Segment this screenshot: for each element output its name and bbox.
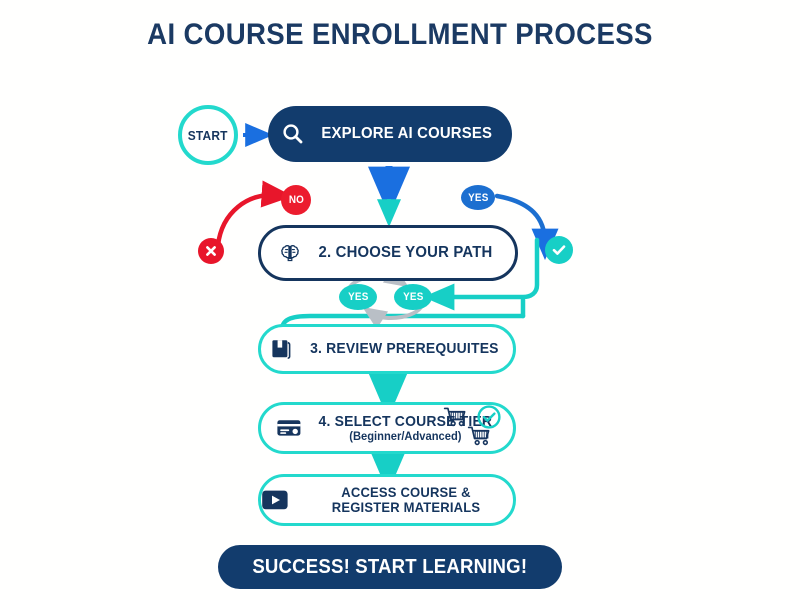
badge-yes-right[interactable]: YES: [461, 185, 495, 210]
node-choose-label: 2. CHOOSE YOUR PATH: [318, 245, 492, 262]
book-icon: [269, 337, 293, 361]
badge-yes-right-label: YES: [468, 192, 488, 204]
play-button-icon: [261, 489, 289, 511]
diagram-canvas: AI COURSE ENROLLMENT PROCESS: [0, 0, 800, 600]
badge-yes-loop-b[interactable]: YES: [394, 284, 432, 310]
brain-icon: [278, 241, 302, 265]
node-success-label: SUCCESS! START LEARNING!: [253, 557, 528, 578]
badge-no-label: NO: [288, 194, 303, 206]
node-access-label: ACCESS COURSE & REGISTER MATERIALS: [306, 485, 505, 514]
start-node[interactable]: START: [178, 105, 238, 165]
badge-yes-loop-a[interactable]: YES: [339, 284, 377, 310]
badge-yes-loop-b-label: YES: [403, 291, 423, 303]
check-circle-icon[interactable]: [545, 236, 573, 264]
node-choose-your-path[interactable]: 2. CHOOSE YOUR PATH: [258, 225, 518, 281]
node-review-label: 3. REVIEW PREREQUUITES: [310, 341, 499, 357]
badge-no[interactable]: NO: [281, 185, 311, 215]
node-explore-ai-courses[interactable]: EXPLORE AI COURSES: [268, 106, 512, 162]
page-title: AI COURSE ENROLLMENT PROCESS: [32, 18, 768, 52]
node-review-prerequisites[interactable]: 3. REVIEW PREREQUUITES: [258, 324, 516, 374]
search-icon: [281, 122, 305, 146]
node-success-banner[interactable]: SUCCESS! START LEARNING!: [218, 545, 562, 589]
node-select-course-tier[interactable]: 4. SELECT COURSE TIER (Beginner/Advanced…: [258, 402, 516, 454]
badge-yes-loop-a-label: YES: [348, 291, 368, 303]
node-access-course-register[interactable]: ACCESS COURSE & REGISTER MATERIALS: [258, 474, 516, 526]
credit-card-icon: [276, 417, 302, 439]
shopping-cart-icon: [443, 405, 505, 451]
node-explore-label: EXPLORE AI COURSES: [322, 126, 493, 143]
start-label: START: [188, 128, 228, 143]
x-circle-icon[interactable]: [198, 238, 224, 264]
